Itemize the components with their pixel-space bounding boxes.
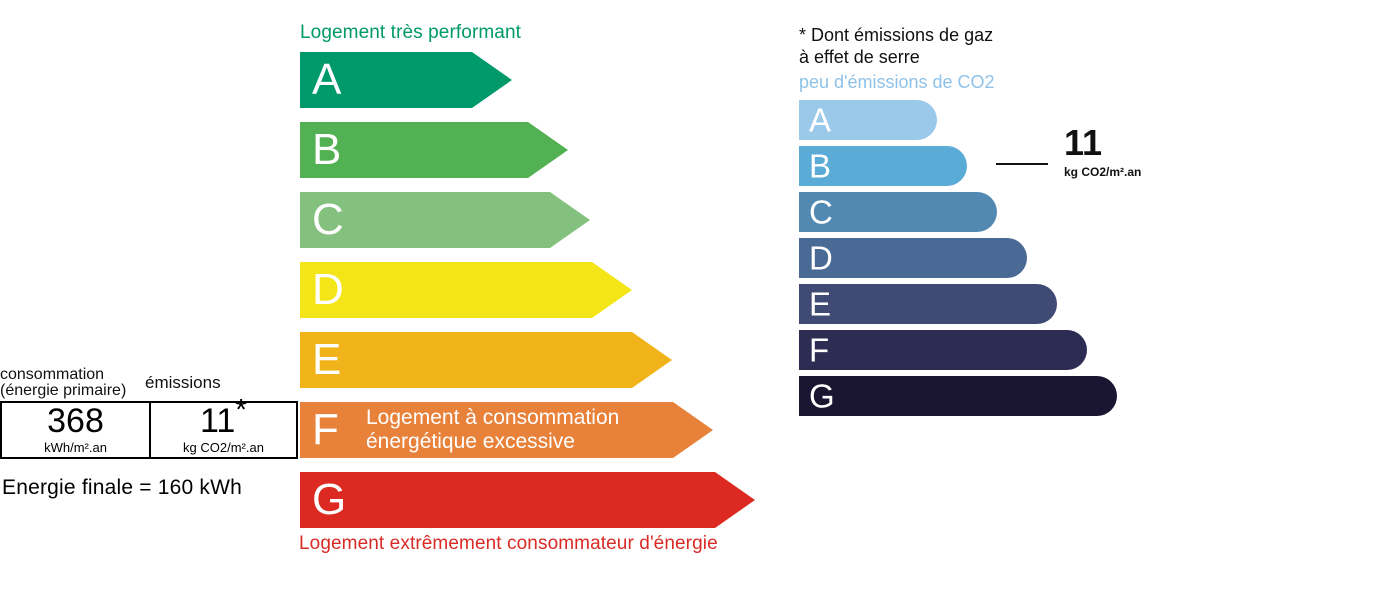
ges-letter-a: A <box>809 104 831 137</box>
ges-bar-shape-d <box>799 238 1027 278</box>
energy-letter-f: F <box>312 408 339 452</box>
ges-row-e: E <box>799 284 1057 324</box>
ges-row-b: B <box>799 146 967 186</box>
energy-row-g: G <box>300 472 755 528</box>
energy-row-f: FLogement à consommation énergétique exc… <box>300 402 713 458</box>
ges-letter-b: B <box>809 150 831 183</box>
energy-letter-a: A <box>312 58 341 102</box>
ges-header-line-2: à effet de serre <box>799 47 920 68</box>
ges-letter-c: C <box>809 196 833 229</box>
energy-row-a: A <box>300 52 512 108</box>
energy-inline-text-f: Logement à consommation énergétique exce… <box>366 406 619 454</box>
energy-top-caption: Logement très performant <box>300 22 521 44</box>
ges-callout-unit: kg CO2/m².an <box>1064 166 1141 179</box>
energy-letter-b: B <box>312 128 341 172</box>
energy-row-b: B <box>300 122 568 178</box>
energy-letter-d: D <box>312 268 344 312</box>
ges-row-a: A <box>799 100 937 140</box>
energy-performance-chart: Logement très performant ABCDEFLogement … <box>0 0 790 600</box>
energy-row-d: D <box>300 262 632 318</box>
energy-letter-e: E <box>312 338 341 382</box>
ges-emissions-chart: * Dont émissions de gaz à effet de serre… <box>790 0 1400 600</box>
ges-row-g: G <box>799 376 1117 416</box>
ges-header-line-1: * Dont émissions de gaz <box>799 25 993 46</box>
ges-letter-g: G <box>809 380 835 413</box>
ges-bar-shape-e <box>799 284 1057 324</box>
ges-row-f: F <box>799 330 1087 370</box>
energy-row-c: C <box>300 192 590 248</box>
dpe-diagram: consommation (énergie primaire) émission… <box>0 0 1400 600</box>
energy-arrow-shape-g <box>300 472 755 528</box>
energy-row-e: E <box>300 332 672 388</box>
energy-letter-c: C <box>312 198 344 242</box>
ges-letter-f: F <box>809 334 829 367</box>
ges-header-line-3: peu d'émissions de CO2 <box>799 72 995 93</box>
energy-bottom-caption: Logement extrêmement consommateur d'éner… <box>299 533 718 555</box>
ges-callout-value: 11 <box>1064 125 1102 161</box>
ges-row-c: C <box>799 192 997 232</box>
ges-letter-e: E <box>809 288 831 321</box>
energy-letter-g: G <box>312 478 346 522</box>
ges-callout: 11 kg CO2/m².an <box>996 125 1166 195</box>
ges-callout-leader-line <box>996 163 1048 165</box>
ges-bar-shape-f <box>799 330 1087 370</box>
ges-letter-d: D <box>809 242 833 275</box>
energy-arrow-shape-e <box>300 332 672 388</box>
ges-row-d: D <box>799 238 1027 278</box>
energy-arrow-shape-d <box>300 262 632 318</box>
ges-bar-shape-g <box>799 376 1117 416</box>
